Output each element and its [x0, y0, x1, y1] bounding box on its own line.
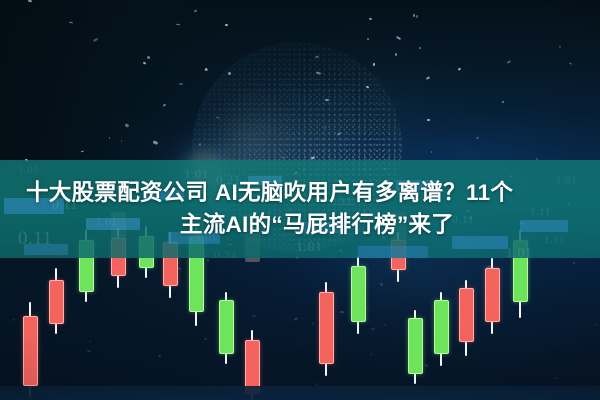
poster-canvas: 0.110.111.011.011.010.211.010.111.010.11…	[0, 0, 600, 400]
global-vignette	[0, 0, 600, 400]
